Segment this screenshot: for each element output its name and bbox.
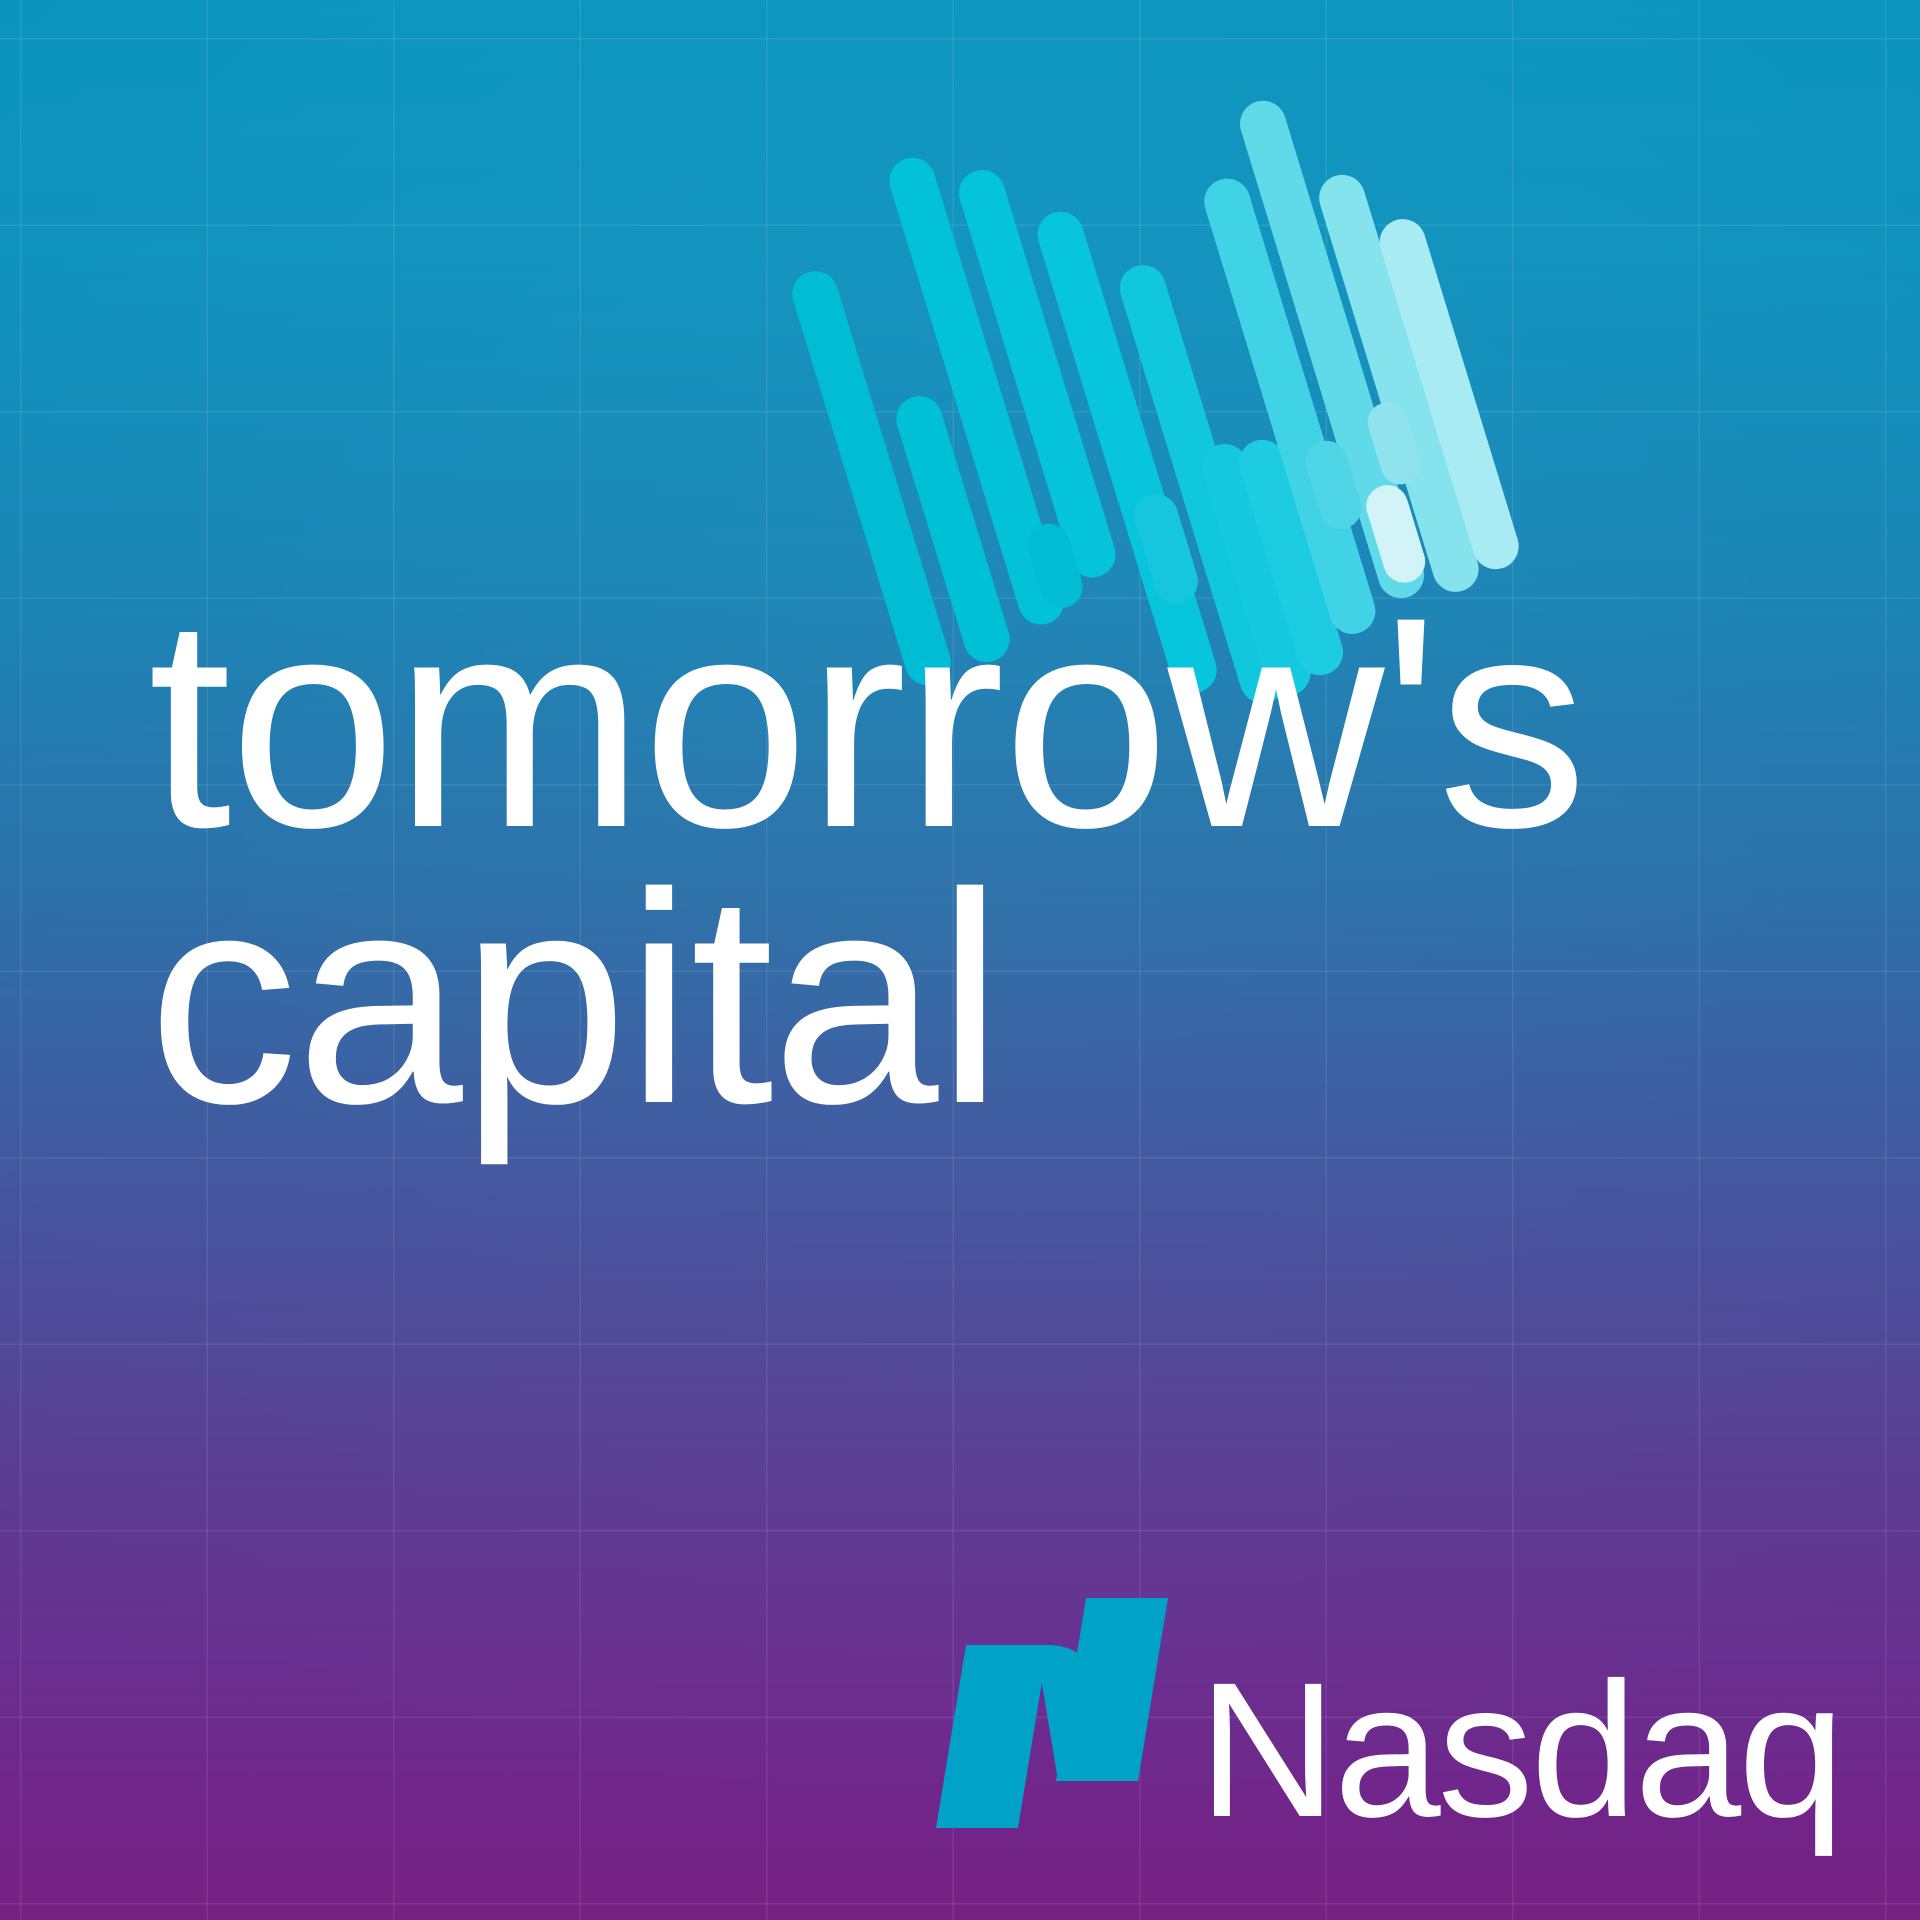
podcast-cover-art: tomorrow's capital Nasdaq	[0, 0, 1920, 1920]
title-line-1: tomorrow's	[148, 572, 1586, 872]
nasdaq-logo-lockup: Nasdaq	[936, 1598, 1842, 1828]
title-line-1-text: tomorrow's	[148, 572, 1586, 872]
nasdaq-n-mark-icon	[936, 1598, 1168, 1828]
title-line-2: capital	[148, 848, 1001, 1148]
title-line-2-text: capital	[148, 848, 1001, 1148]
nasdaq-wordmark: Nasdaq	[1198, 1671, 1842, 1828]
